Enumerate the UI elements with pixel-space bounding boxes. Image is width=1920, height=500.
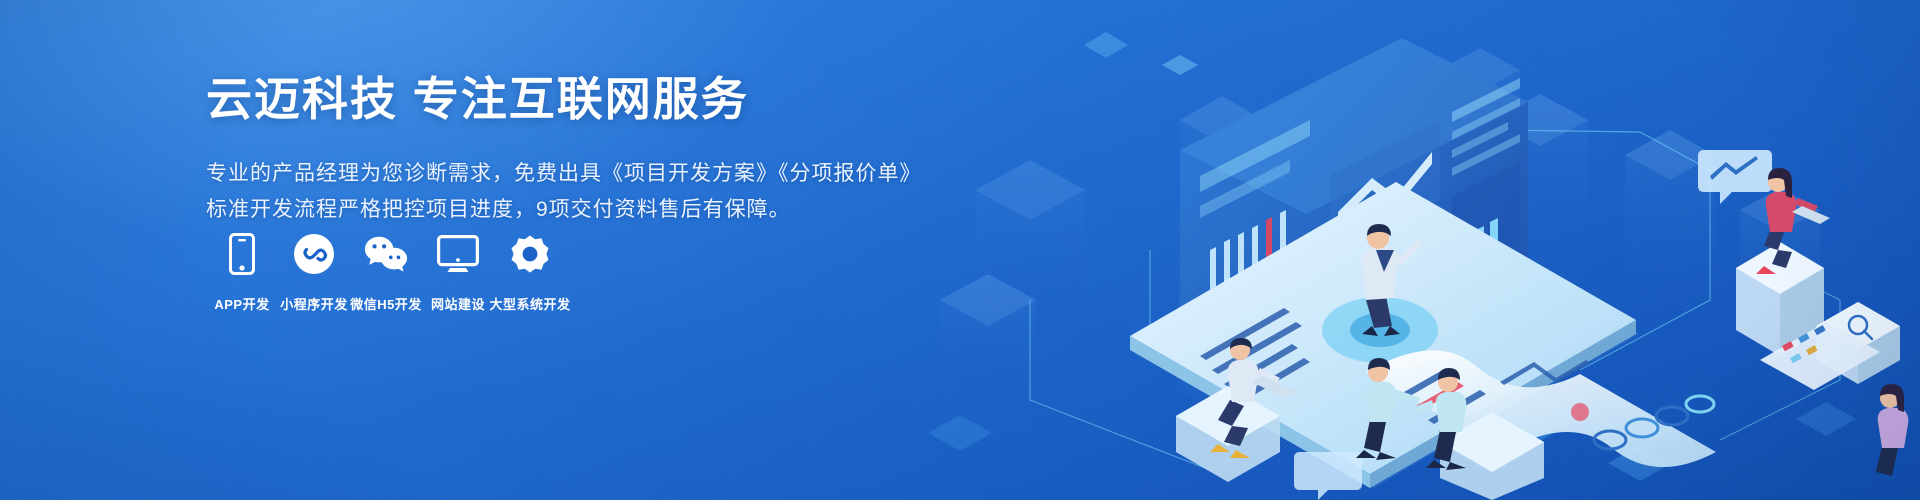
wechat-icon [364, 232, 408, 276]
banner-copy: 云迈科技 专注互联网服务 专业的产品经理为您诊断需求，免费出具《项目开发方案》《… [206, 72, 926, 228]
gear-icon [508, 232, 552, 276]
service-item-website[interactable]: 网站建设 [422, 232, 494, 313]
service-label: 大型系统开发 [490, 294, 571, 313]
service-label: 网站建设 [431, 294, 485, 313]
service-list: APP开发 小程序开发 微信 [206, 232, 566, 313]
service-label: 小程序开发 [280, 294, 348, 313]
hero-illustration [880, 0, 1920, 500]
subtitle-line-1: 专业的产品经理为您诊断需求，免费出具《项目开发方案》《分项报价单》 [206, 156, 926, 192]
service-item-app[interactable]: APP开发 [206, 232, 278, 313]
service-item-wechat-h5[interactable]: 微信H5开发 [350, 232, 422, 313]
banner-subtitle: 专业的产品经理为您诊断需求，免费出具《项目开发方案》《分项报价单》 标准开发流程… [206, 156, 926, 228]
page-title: 云迈科技 专注互联网服务 [206, 72, 926, 126]
subtitle-line-2: 标准开发流程严格把控项目进度，9项交付资料售后有保障。 [206, 192, 926, 228]
monitor-icon [436, 232, 480, 276]
mobile-phone-icon [220, 232, 264, 276]
service-label: 微信H5开发 [350, 294, 422, 313]
service-label: APP开发 [214, 294, 269, 313]
promo-banner: 云迈科技 专注互联网服务 专业的产品经理为您诊断需求，免费出具《项目开发方案》《… [0, 0, 1920, 500]
service-item-large-system[interactable]: 大型系统开发 [494, 232, 566, 313]
far-right-person [1876, 384, 1908, 476]
mini-program-icon [292, 232, 336, 276]
service-item-mini-program[interactable]: 小程序开发 [278, 232, 350, 313]
